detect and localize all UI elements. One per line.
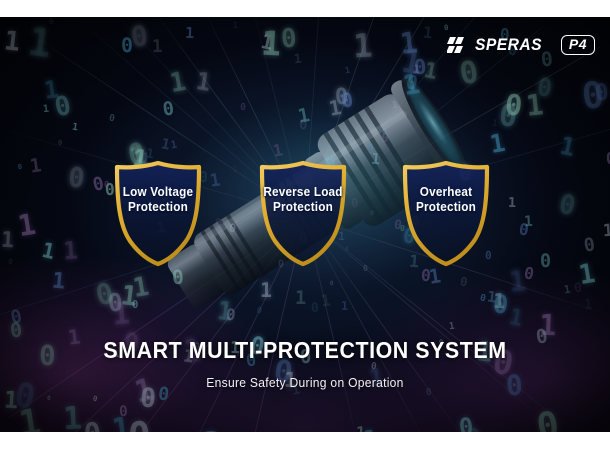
- page-title: SMART MULTI-PROTECTION SYSTEM: [21, 337, 588, 364]
- artwork-band: 1100000101000000110010001110011110001101…: [0, 17, 610, 432]
- shield-low-voltage[interactable]: Low Voltage Protection: [110, 159, 206, 267]
- headline-block: SMART MULTI-PROTECTION SYSTEM Ensure Saf…: [0, 337, 610, 390]
- checkered-blocks-icon: [447, 37, 466, 53]
- model-badge: P4: [561, 35, 595, 55]
- shield-reverse-load[interactable]: Reverse Load Protection: [255, 159, 351, 267]
- poster-canvas: 1100000101000000110010001110011110001101…: [0, 0, 610, 450]
- shield-shape-icon: [255, 159, 351, 267]
- shield-shape-icon: [110, 159, 206, 267]
- brand-name: SPERAS: [475, 35, 542, 55]
- shield-overheat[interactable]: Overheat Protection: [398, 159, 494, 267]
- page-subtitle: Ensure Safety During on Operation: [21, 375, 588, 390]
- brand-lockup: SPERAS P4: [447, 35, 595, 55]
- shield-shape-icon: [398, 159, 494, 267]
